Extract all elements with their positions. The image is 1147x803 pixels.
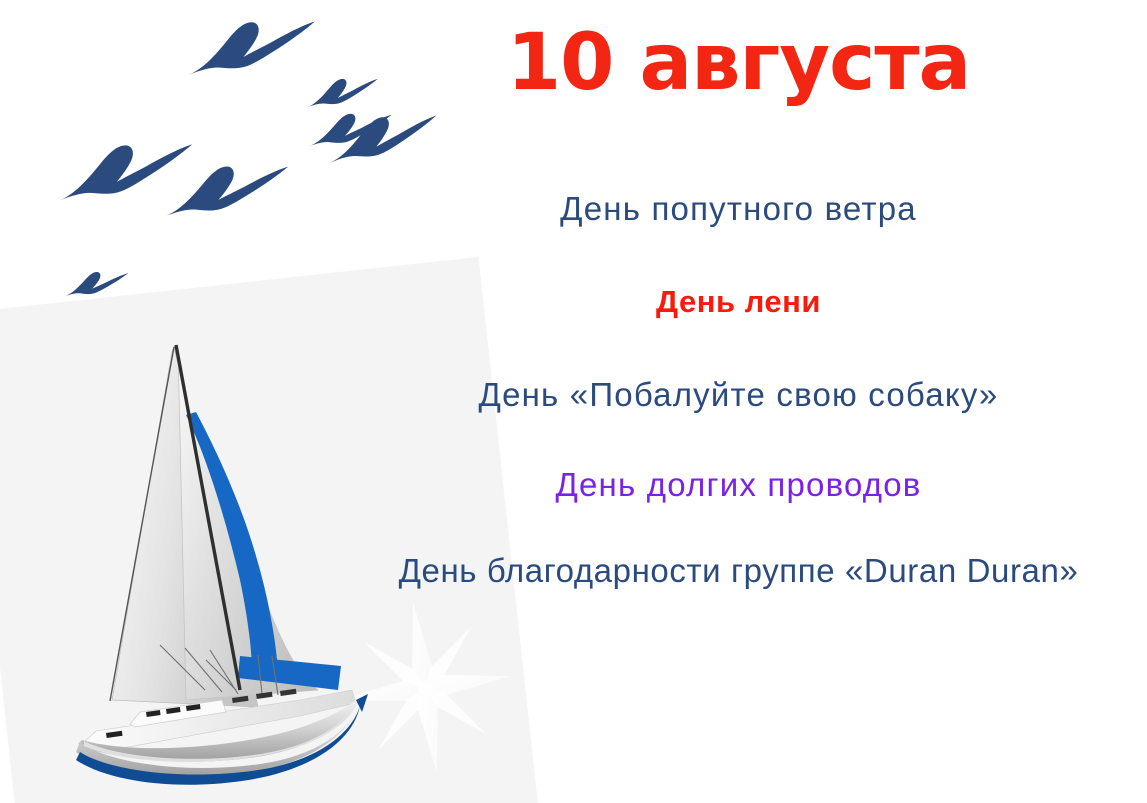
seagull-5 xyxy=(53,138,197,201)
observance-line-5: День благодарности группе «Duran Duran» xyxy=(330,552,1147,590)
text-column: 10 августа День попутного ветра День лен… xyxy=(330,0,1147,803)
seagull-7 xyxy=(63,270,129,296)
seagull-1 xyxy=(183,16,319,76)
page-title: 10 августа xyxy=(330,24,1147,102)
observance-line-1: День попутного ветра xyxy=(330,190,1147,228)
observance-line-2: День лени xyxy=(330,284,1147,320)
poster-canvas: 10 августа День попутного ветра День лен… xyxy=(0,0,1147,803)
seagull-6 xyxy=(161,161,292,216)
observance-line-4: День долгих проводов xyxy=(330,466,1147,504)
observance-line-3: День «Побалуйте свою собаку» xyxy=(330,376,1147,414)
